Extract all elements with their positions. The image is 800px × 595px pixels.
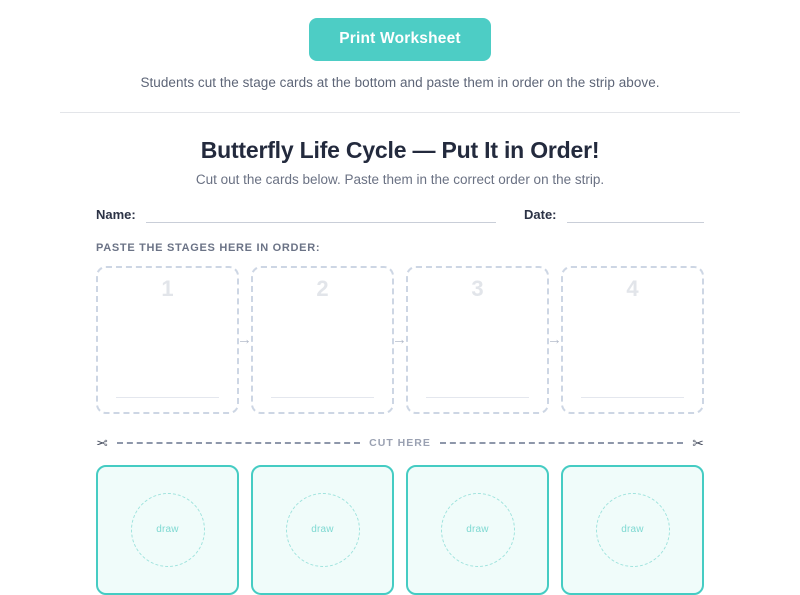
cut-dash-left	[117, 442, 360, 444]
paste-slot-1[interactable]: 1 →	[96, 266, 239, 414]
date-field-label: Date:	[524, 207, 557, 223]
name-date-row: Name: Date:	[96, 207, 704, 223]
paste-slot-rule	[426, 397, 529, 398]
arrow-right-icon: →	[547, 332, 559, 348]
draw-placeholder-circle[interactable]: draw	[286, 493, 360, 567]
worksheet-subtitle: Cut out the cards below. Paste them in t…	[96, 172, 704, 187]
paste-slot-rule	[116, 397, 219, 398]
draw-placeholder-circle[interactable]: draw	[441, 493, 515, 567]
paste-slot-4[interactable]: 4	[561, 266, 704, 414]
name-field[interactable]: Name:	[96, 207, 496, 223]
date-field[interactable]: Date:	[524, 207, 704, 223]
stage-card-2[interactable]: draw	[251, 465, 394, 595]
toolbar-hint-text: Students cut the stage cards at the bott…	[0, 75, 800, 90]
paste-slot-rule	[581, 397, 684, 398]
stage-card-3[interactable]: draw	[406, 465, 549, 595]
stage-card-4[interactable]: draw	[561, 465, 704, 595]
scissors-icon-left: ✂	[96, 436, 108, 450]
cut-line: ✂ CUT HERE ✂	[96, 436, 704, 450]
worksheet: Butterfly Life Cycle — Put It in Order! …	[0, 137, 800, 595]
stage-card-1[interactable]: draw	[96, 465, 239, 595]
paste-section-label: PASTE THE STAGES HERE IN ORDER:	[96, 242, 704, 254]
paste-slot-number: 1	[98, 278, 237, 300]
paste-slot-number: 2	[253, 278, 392, 300]
cut-here-label: CUT HERE	[369, 437, 431, 449]
paste-slot-number: 4	[563, 278, 702, 300]
cut-dash-right	[440, 442, 683, 444]
arrow-right-icon: →	[392, 332, 404, 348]
print-worksheet-button[interactable]: Print Worksheet	[309, 18, 491, 61]
scissors-icon-right: ✂	[692, 436, 704, 450]
header-divider	[60, 112, 740, 113]
toolbar: Print Worksheet Students cut the stage c…	[0, 0, 800, 90]
paste-slot-3[interactable]: 3 →	[406, 266, 549, 414]
paste-slot-2[interactable]: 2 →	[251, 266, 394, 414]
stage-card-row: draw draw draw draw	[96, 465, 704, 595]
paste-slot-number: 3	[408, 278, 547, 300]
date-field-rule[interactable]	[567, 210, 704, 223]
draw-placeholder-circle[interactable]: draw	[596, 493, 670, 567]
name-field-label: Name:	[96, 207, 136, 223]
arrow-right-icon: →	[237, 332, 249, 348]
draw-placeholder-circle[interactable]: draw	[131, 493, 205, 567]
name-field-rule[interactable]	[146, 210, 496, 223]
paste-slot-rule	[271, 397, 374, 398]
paste-strip: 1 → 2 → 3 → 4	[96, 266, 704, 414]
worksheet-title: Butterfly Life Cycle — Put It in Order!	[96, 137, 704, 164]
